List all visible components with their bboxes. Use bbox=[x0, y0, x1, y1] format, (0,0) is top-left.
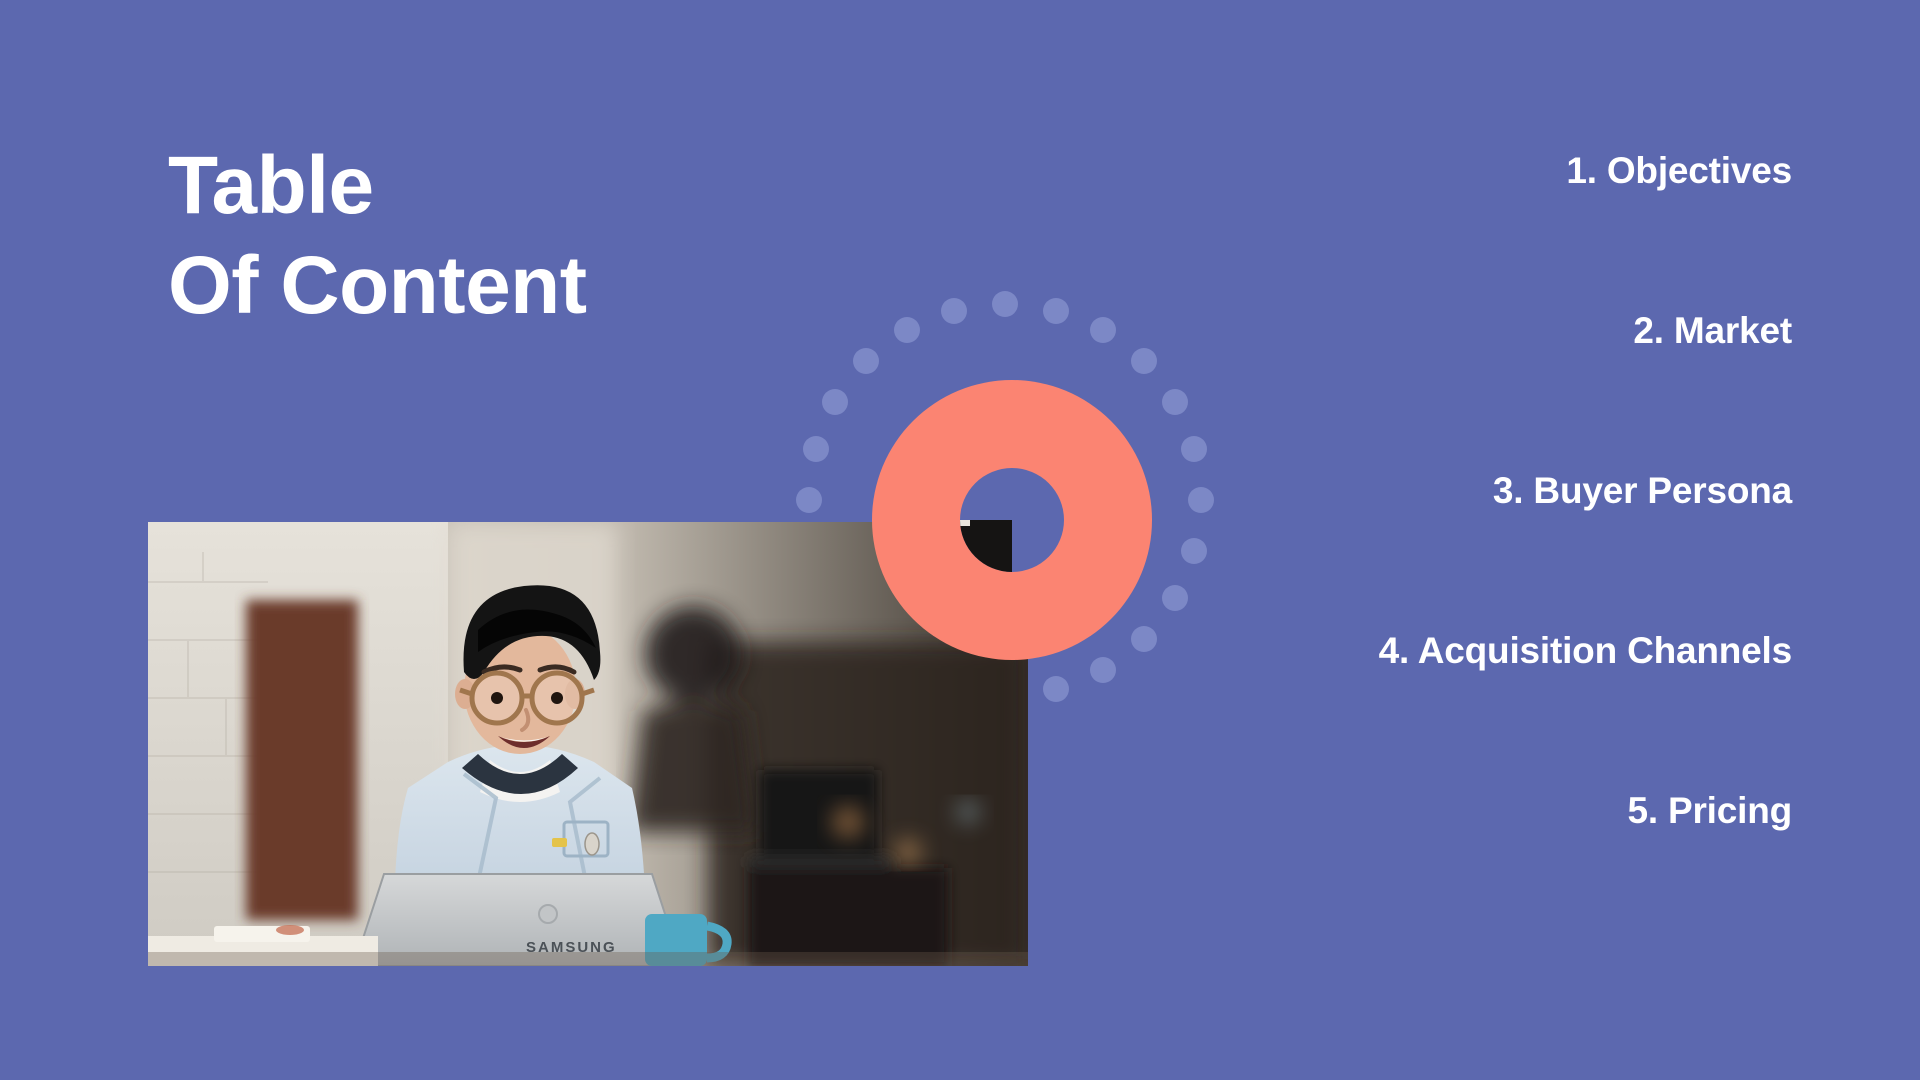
toc-item-5[interactable]: 5. Pricing bbox=[812, 790, 1792, 832]
toc-item-4[interactable]: 4. Acquisition Channels bbox=[812, 630, 1792, 672]
toc-item-2[interactable]: 2. Market bbox=[812, 310, 1792, 352]
toc-item-1[interactable]: 1. Objectives bbox=[812, 150, 1792, 192]
slide-root: Table Of Content bbox=[0, 0, 1920, 1080]
table-of-contents-list: 1. Objectives 2. Market 3. Buyer Persona… bbox=[812, 150, 1792, 832]
toc-item-3[interactable]: 3. Buyer Persona bbox=[812, 470, 1792, 512]
